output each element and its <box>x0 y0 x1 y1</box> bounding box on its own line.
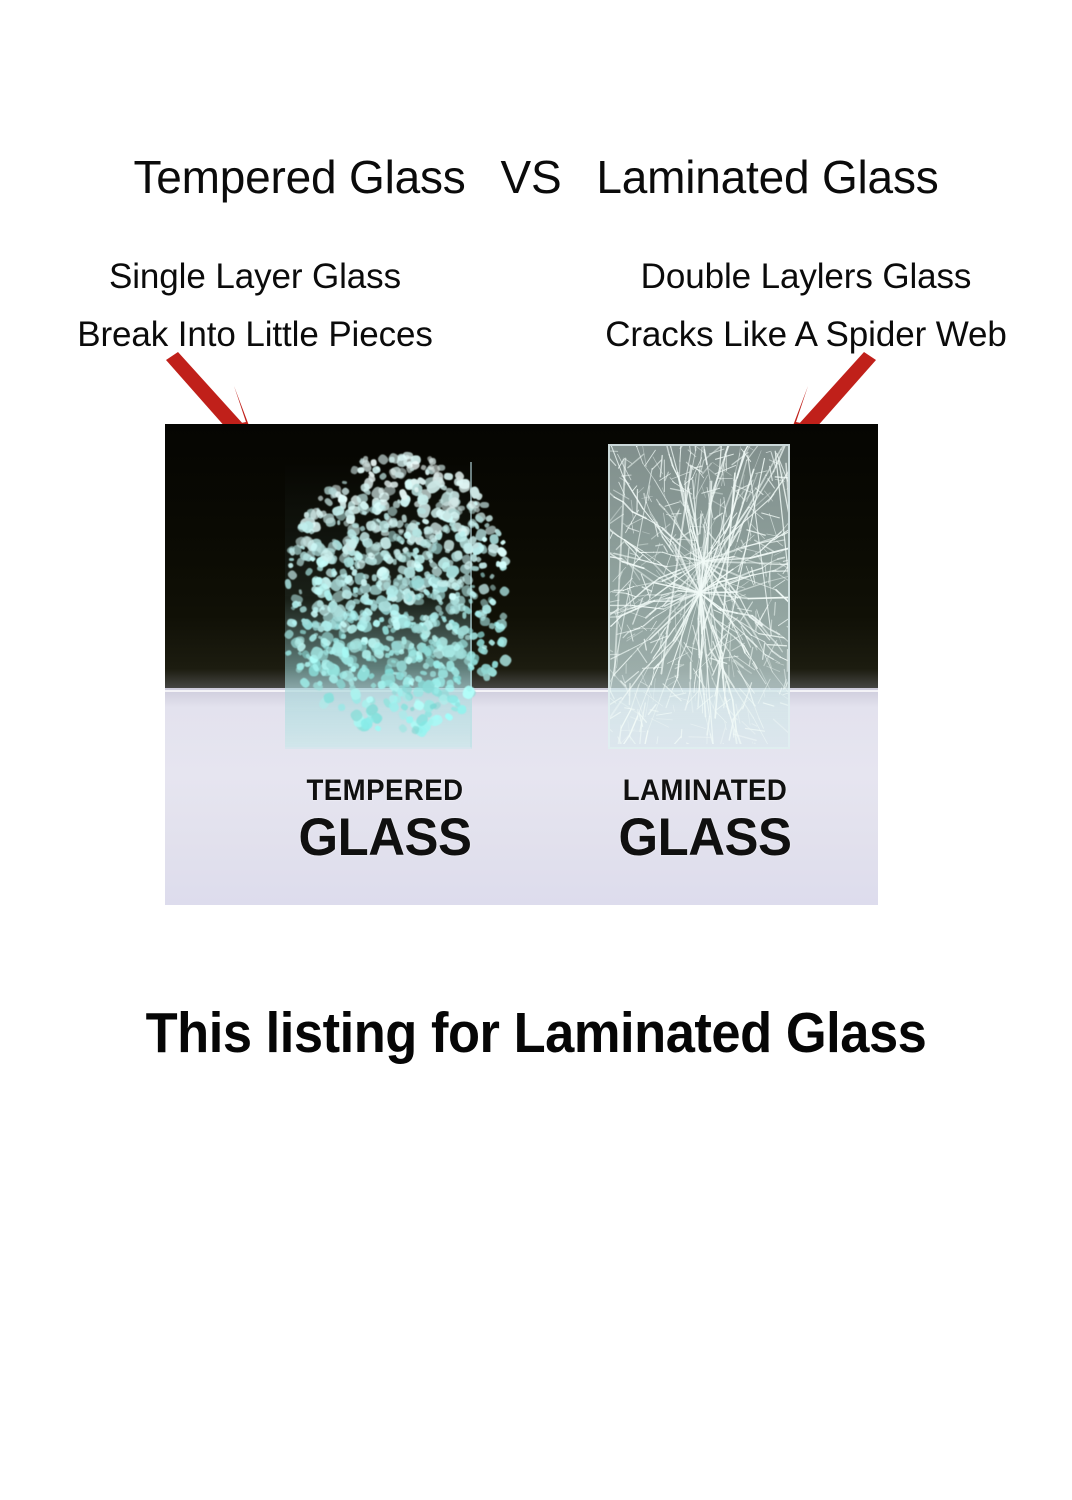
title-tempered-glass: Tempered Glass <box>133 151 465 203</box>
title-vs: VS <box>500 151 561 203</box>
photo-label-laminated-big: GLASS <box>585 811 825 864</box>
photo-label-tempered-top: TEMPERED <box>270 776 500 806</box>
photo-label-laminated: LAMINATED GLASS <box>580 776 830 864</box>
title-laminated-glass: Laminated Glass <box>596 151 938 203</box>
listing-note: This listing for Laminated Glass <box>43 1000 1029 1066</box>
caption-laminated-line1: Double Laylers Glass <box>540 248 1072 306</box>
spider-web-crack-pattern <box>610 446 788 744</box>
laminated-glass-panel <box>608 444 790 749</box>
caption-tempered: Single Layer Glass Break Into Little Pie… <box>0 248 510 364</box>
photo-label-tempered: TEMPERED GLASS <box>260 776 510 864</box>
caption-tempered-line1: Single Layer Glass <box>0 248 510 306</box>
comparison-photo: TEMPERED GLASS LAMINATED GLASS <box>165 424 878 905</box>
caption-laminated: Double Laylers Glass Cracks Like A Spide… <box>540 248 1072 364</box>
laminated-pane-body <box>608 444 790 749</box>
tempered-glass-panel <box>285 464 470 749</box>
tempered-shard-cloud <box>267 456 497 724</box>
page-title: Tempered Glass VS Laminated Glass <box>0 150 1072 204</box>
photo-label-tempered-big: GLASS <box>265 811 505 864</box>
photo-label-laminated-top: LAMINATED <box>590 776 820 806</box>
